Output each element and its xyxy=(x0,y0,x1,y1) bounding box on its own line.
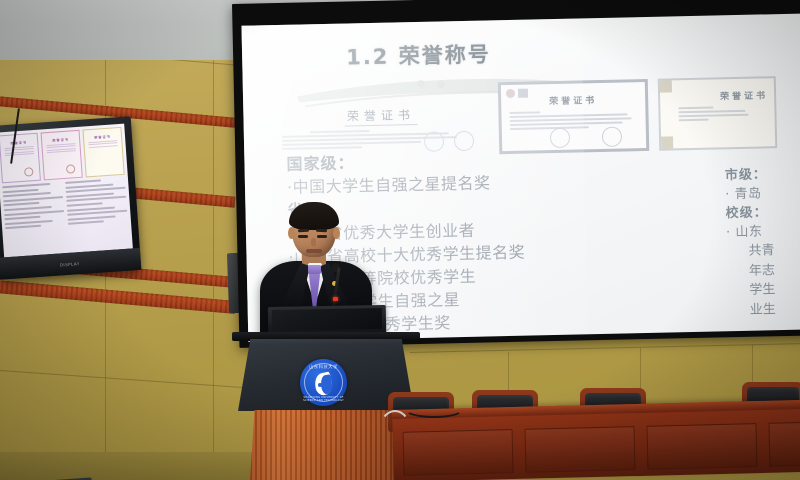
certificate-body-lines xyxy=(282,128,481,150)
floor xyxy=(0,452,260,480)
certificate-logo-icon xyxy=(518,89,528,98)
display-certificate: 荣誉证书 xyxy=(0,133,41,184)
award-item: · 青岛 xyxy=(725,183,800,205)
award-level-label: 市级： xyxy=(725,164,800,186)
certificate-corner-ornament xyxy=(660,80,672,92)
conference-hall-scene: 1.2 荣誉称号 荣誉证书 xyxy=(0,0,800,480)
certificate-body-lines xyxy=(678,105,766,120)
podium-wooden-base xyxy=(250,410,402,480)
table-panel xyxy=(768,422,800,467)
display-certificate: 荣誉证书 xyxy=(41,130,83,181)
wall-seam-vertical xyxy=(213,40,214,470)
speaker-hair xyxy=(289,202,339,230)
table-panel xyxy=(403,429,514,476)
podium-laptop[interactable] xyxy=(268,305,386,335)
speaker-eye-right xyxy=(317,235,327,238)
speaker-eye-left xyxy=(298,235,308,238)
certificate-seal xyxy=(602,127,622,147)
certificate-heading: 荣誉证书 xyxy=(660,88,774,103)
certificate-body-lines xyxy=(509,109,637,129)
table-panel xyxy=(524,426,635,473)
slide-right-column: 市级： · 青岛 校级： · 山东 共青 年志 学生 业生 xyxy=(725,164,800,321)
display-slide-mirror: 荣誉证书 荣誉证书 荣誉证书 xyxy=(0,124,133,258)
display-certificate-seal xyxy=(24,167,34,177)
university-emblem-icon: 山东科技大学 SHANDONG UNIVERSITY OF SCIENCE AN… xyxy=(300,359,347,406)
display-brand-label: DISPLAY xyxy=(60,261,80,267)
display-certificate-row: 荣誉证书 荣誉证书 荣誉证书 xyxy=(0,127,125,183)
display-text-column xyxy=(65,178,128,228)
podium-laptop-screen[interactable] xyxy=(272,308,382,331)
speaker-ear-left xyxy=(288,227,295,239)
certificate-seal xyxy=(550,128,570,148)
microphone-indicator-icon xyxy=(333,297,338,301)
display-certificate-seal xyxy=(66,164,76,174)
emblem-bottom-text: SHANDONG UNIVERSITY OF SCIENCE AND TECHN… xyxy=(300,396,347,402)
table-cable xyxy=(378,410,412,456)
award-item-continuation: 共青 xyxy=(726,239,800,262)
speaker-mouth xyxy=(306,249,322,253)
wall-mounted-display: 荣誉证书 荣誉证书 荣誉证书 xyxy=(0,116,141,280)
award-item: · 山东 xyxy=(726,221,800,243)
display-screen: 荣誉证书 荣誉证书 荣誉证书 xyxy=(0,124,133,258)
certificate-image: 荣誉证书 xyxy=(658,76,778,151)
speaker-ear-right xyxy=(333,227,340,239)
certificate-image: 荣誉证书 xyxy=(273,82,489,157)
certificate-image: 荣誉证书 xyxy=(498,79,650,154)
display-text-columns xyxy=(2,178,128,232)
emblem-top-text: 山东科技大学 xyxy=(300,364,347,370)
award-item-continuation: 年志 xyxy=(727,259,800,282)
speaker-tie-knot xyxy=(308,265,321,274)
slide-title: 1.2 荣誉称号 xyxy=(346,32,799,72)
award-item-continuation: 学生 xyxy=(727,278,800,301)
award-item-continuation: 业生 xyxy=(728,298,800,321)
award-level-label: 校级： xyxy=(726,202,800,224)
table-panel xyxy=(646,423,757,470)
emblem-dot xyxy=(318,383,322,387)
display-text-column xyxy=(2,182,65,232)
display-certificate: 荣誉证书 xyxy=(82,127,124,178)
speaker-nose xyxy=(311,238,316,246)
certificate-heading: 荣誉证书 xyxy=(345,106,417,127)
table-cable xyxy=(404,400,464,418)
